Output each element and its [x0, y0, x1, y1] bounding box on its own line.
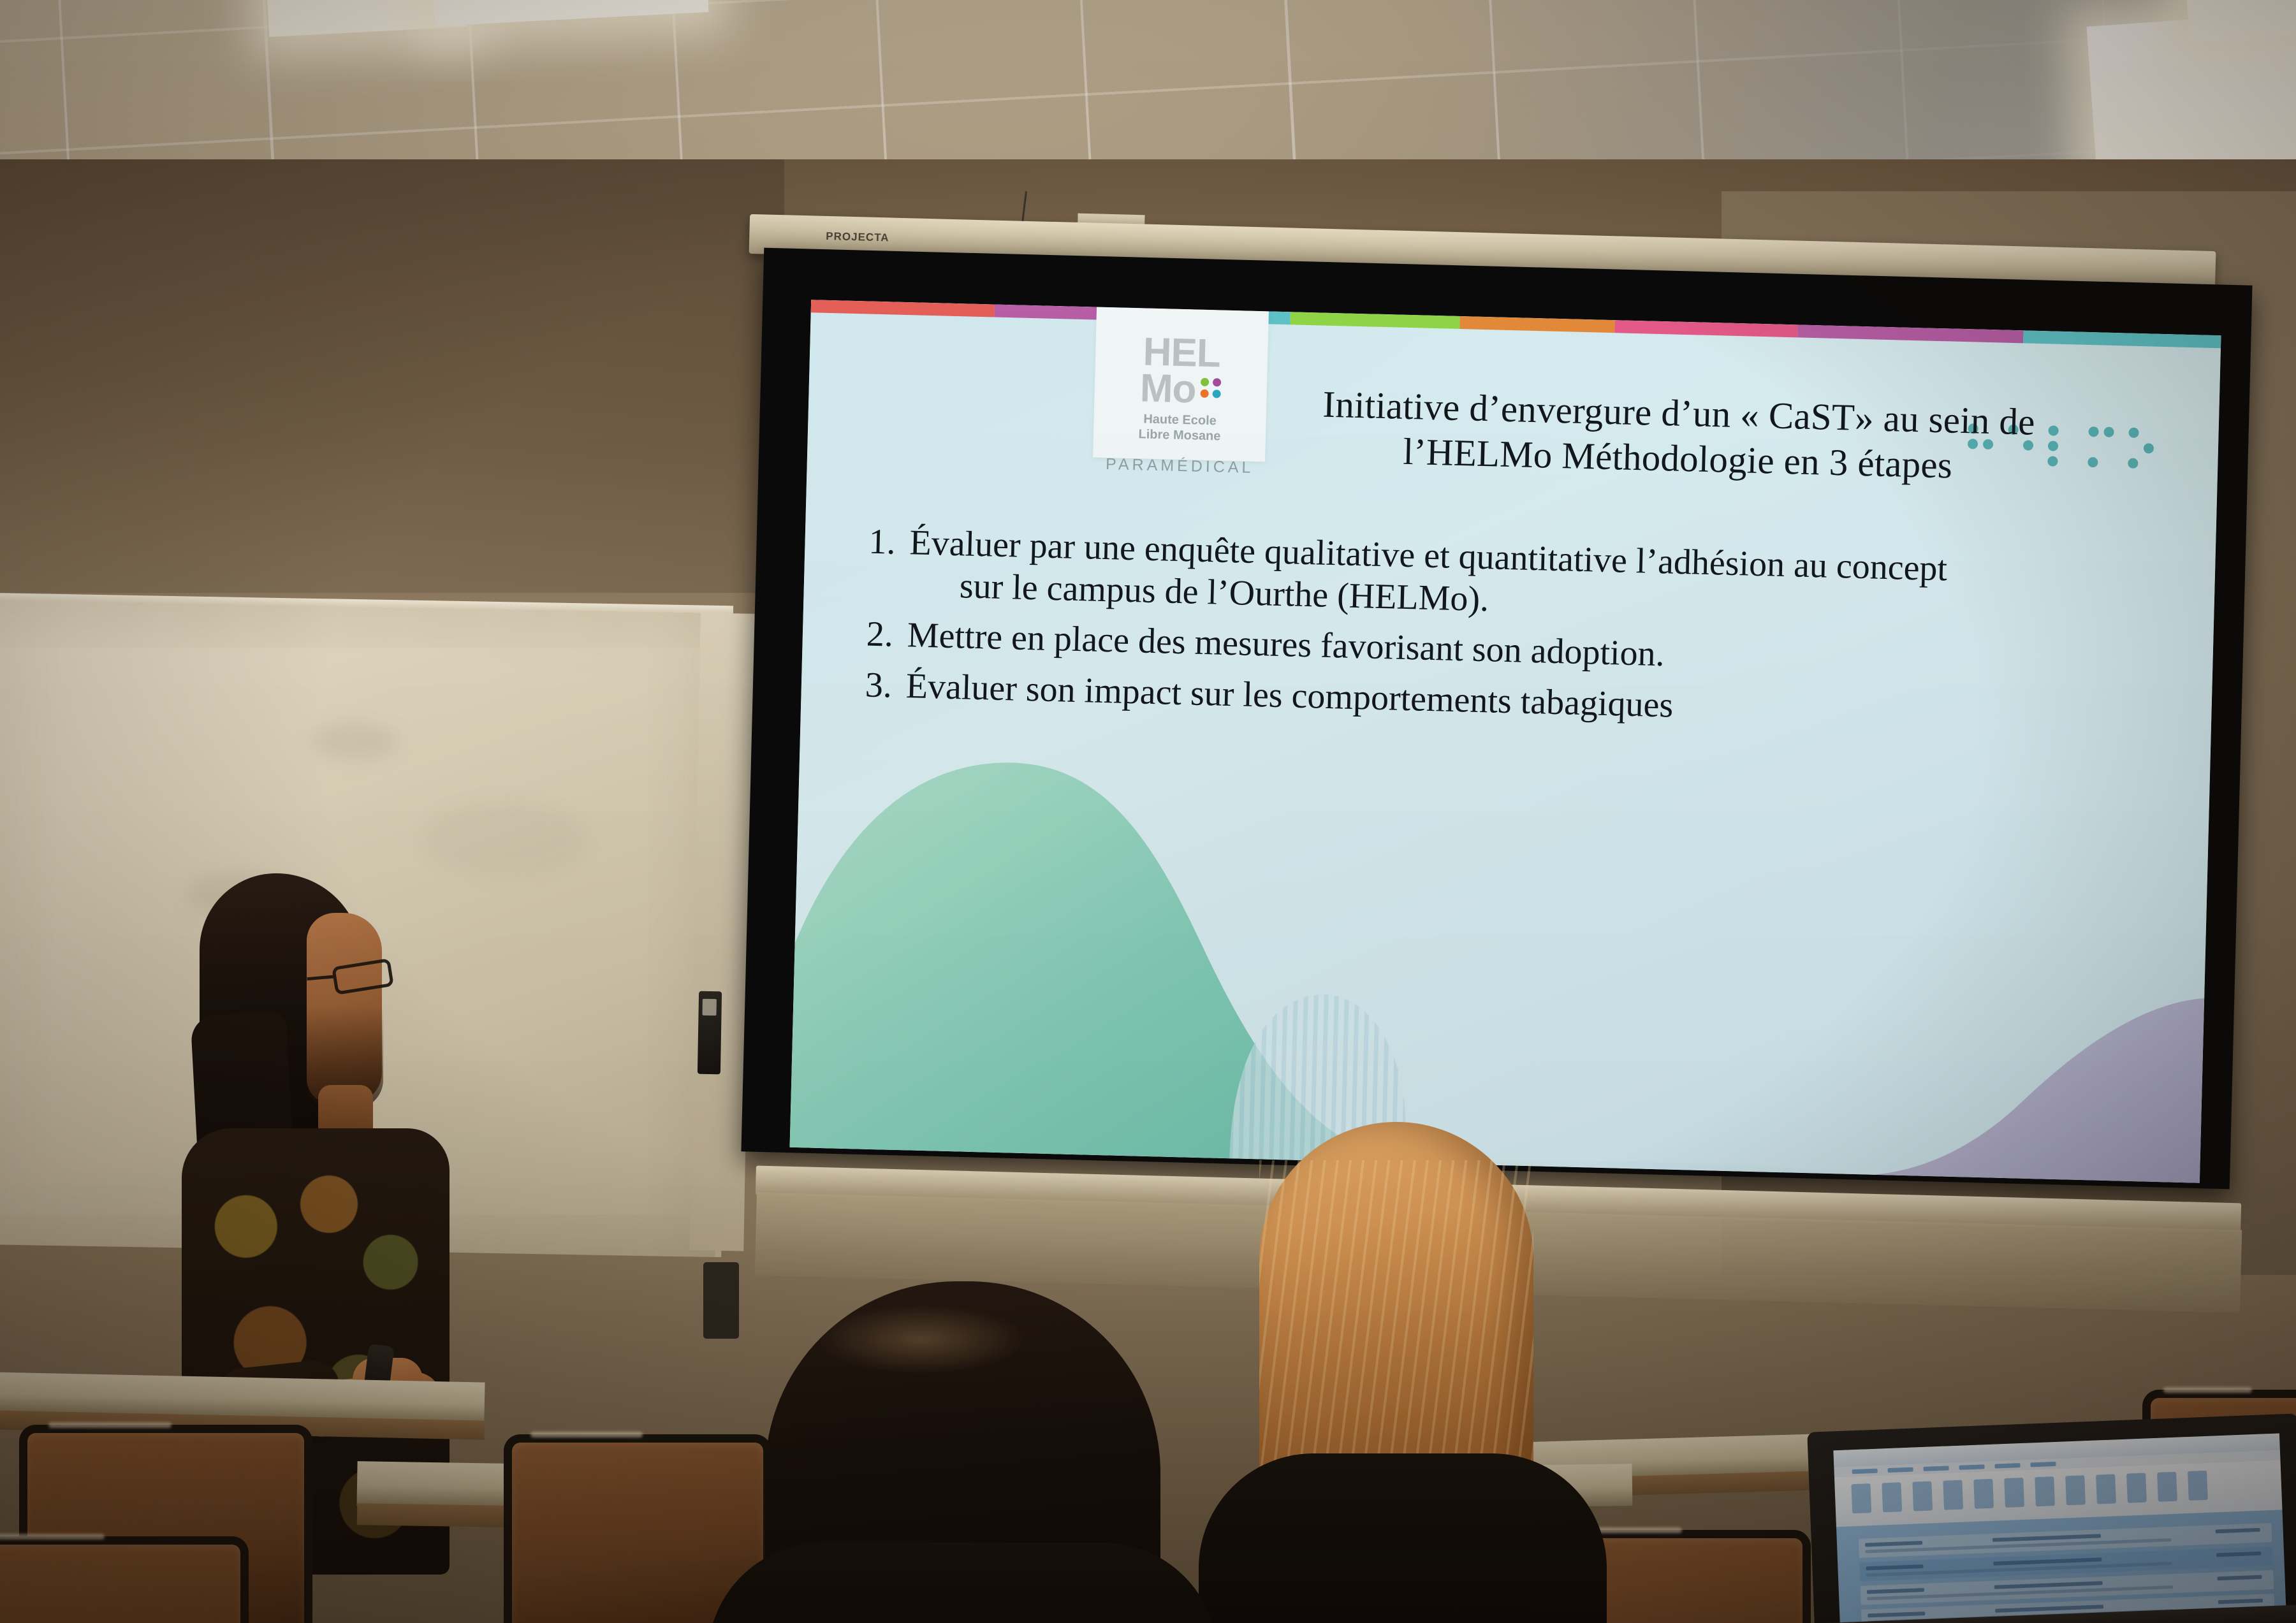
ceiling-light-panel	[2184, 0, 2296, 42]
laptop-screen[interactable]	[1833, 1433, 2286, 1623]
laptop[interactable]	[1807, 1413, 2296, 1623]
slide-wave-decoration	[790, 752, 2210, 1183]
logo-dot	[1212, 389, 1220, 398]
logo-subtitle-line1: Haute Ecole	[1143, 412, 1217, 428]
audience-shoulders	[1199, 1453, 1607, 1623]
helmo-logo: HEL Mo Haute Ecole Libre Mosane	[1093, 305, 1269, 462]
list-item-number: 2.	[859, 613, 908, 656]
slide-title: Initiative d’envergure d’un « CaST» au s…	[1254, 380, 2103, 491]
upper-wall-shadow	[0, 159, 784, 593]
slide-numbered-list: 1. Évaluer par une enquête qualitative e…	[858, 521, 2170, 748]
logo-subtitle: Haute Ecole Libre Mosane	[1138, 412, 1221, 444]
marker-holder[interactable]	[698, 991, 722, 1075]
wall-socket[interactable]	[703, 1262, 739, 1339]
presentation-slide: HEL Mo Haute Ecole Libre Mosane PARAMÉDI…	[790, 300, 2221, 1183]
braille-cell	[2128, 428, 2155, 470]
whiteboard-smudge	[421, 799, 589, 879]
logo-dot	[1200, 389, 1208, 398]
classroom-scene: PROJECTA HEL Mo Haute Ecole Libre Mosane…	[0, 0, 2296, 1623]
audience-shoulders	[708, 1543, 1218, 1623]
list-item-number: 3.	[858, 664, 907, 707]
logo-dot	[1213, 378, 1221, 386]
list-item-text: Évaluer son impact sur les comportements…	[905, 666, 1674, 725]
logo-line-mo: Mo	[1139, 370, 1196, 407]
logo-dot	[1201, 378, 1209, 386]
whiteboard-secondary-panel	[689, 613, 754, 1251]
logo-subtitle-line2: Libre Mosane	[1138, 427, 1220, 443]
logo-department-label: PARAMÉDICAL	[1095, 455, 1264, 478]
audience-hair-highlight	[816, 1304, 1027, 1374]
screen-brand-label: PROJECTA	[826, 230, 889, 245]
chair[interactable]	[0, 1536, 249, 1623]
whiteboard-smudge	[309, 721, 399, 761]
list-item-number: 1.	[861, 521, 910, 606]
list-item-text: Mettre en place des mesures favorisant s…	[907, 615, 1665, 674]
logo-dots-icon	[1200, 378, 1222, 398]
